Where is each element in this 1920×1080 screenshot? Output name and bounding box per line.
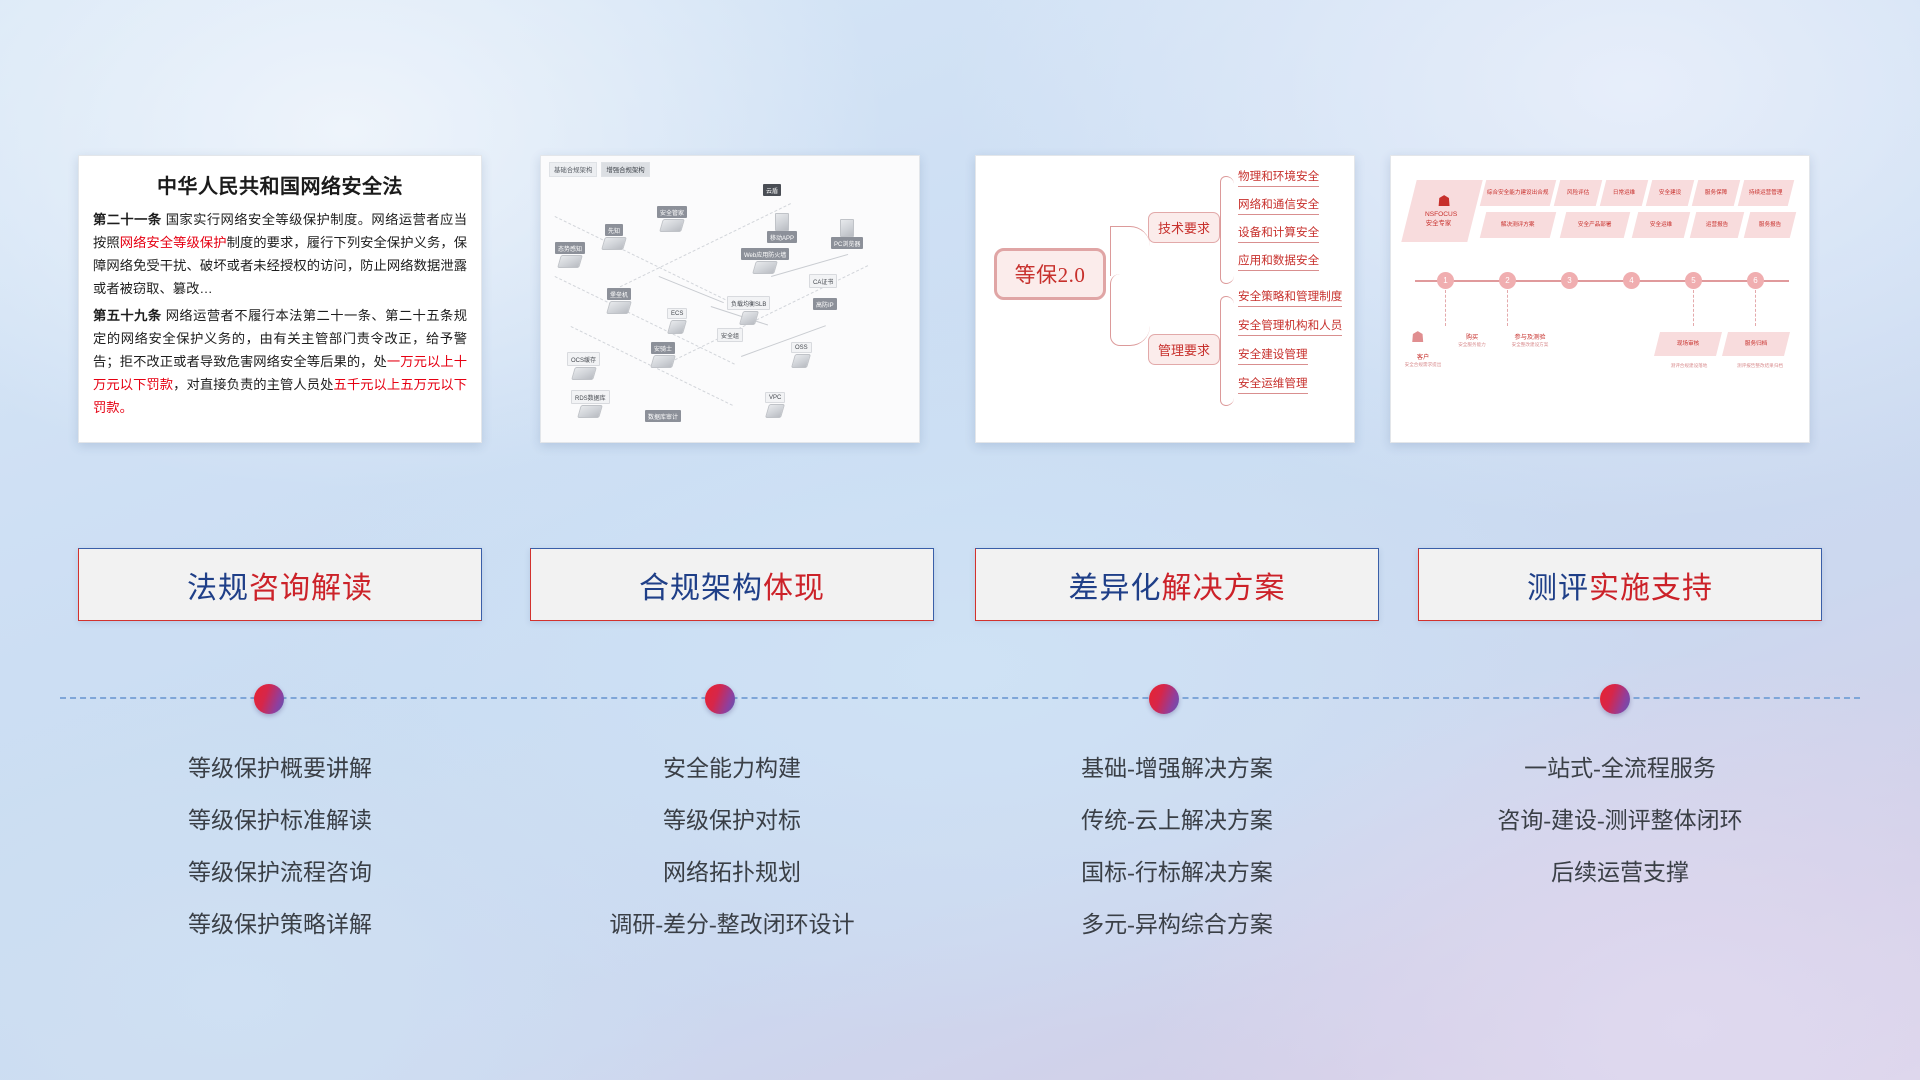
expert-role: 安全专家	[1426, 220, 1452, 228]
title-box-assessment-support[interactable]: 测评实施支持	[1418, 548, 1822, 621]
list-item-asm-2: 后续运营支撑	[1418, 861, 1822, 884]
bottom-label-customer-title: 客户	[1417, 354, 1429, 361]
list-item-reg-3: 等级保护策略详解	[78, 913, 482, 936]
title-text-assessment: 测评实施支持	[1527, 563, 1713, 607]
service-band-label-2: 安全运维	[1650, 222, 1672, 229]
title-box-regulation-consulting[interactable]: 法规咨询解读	[78, 548, 482, 621]
title-text-solution: 差异化解决方案	[1069, 563, 1286, 607]
timeline-dot-3[interactable]	[1149, 684, 1179, 714]
list-item-arch-3: 调研-差分-整改闭环设计	[530, 913, 934, 936]
node-label-waf: Web应用防火墙	[741, 248, 789, 260]
title-blue-1: 合规架构	[639, 572, 763, 605]
top-band-label-1: 风险评估	[1567, 190, 1589, 197]
mindmap-leaf-ops-mgmt: 安全运维管理	[1238, 375, 1308, 394]
node-label-ecs: ECS	[667, 308, 687, 319]
bottom-label-purchase-title: 购买	[1466, 334, 1478, 341]
article-number-21: 第二十一条	[93, 212, 162, 227]
title-blue-2: 差异化	[1069, 572, 1162, 605]
service-band-1: 安全产品部署	[1560, 212, 1630, 238]
bottom-sub-archive-text: 测评报告整改结果归档	[1721, 363, 1799, 369]
bottom-sub-onsite: 测评合规建设落地	[1653, 362, 1725, 369]
mindmap-leaf-device-compute: 设备和计算安全	[1238, 224, 1319, 243]
title-box-differentiated-solution[interactable]: 差异化解决方案	[975, 548, 1379, 621]
architecture-tabs: 基础合规架构 增强合规架构	[549, 162, 650, 177]
bottom-label-customer-sub: 安全合规需求提出	[1401, 362, 1445, 368]
bottom-label-purchase-sub: 安全服务能力	[1449, 342, 1495, 348]
node-label-ca-cert: CA证书	[809, 274, 837, 288]
node-xianzhi: 先知	[603, 224, 625, 250]
list-item-asm-0: 一站式-全流程服务	[1418, 757, 1822, 780]
iso-guide-3	[620, 203, 791, 287]
node-cube-rds	[577, 405, 603, 418]
flow-step-5: 5	[1685, 272, 1702, 289]
bottom-label-customer: 客户 安全合规需求提出	[1401, 352, 1445, 368]
node-label-situational-awareness: 态势感知	[555, 242, 585, 254]
timeline-dot-4[interactable]	[1600, 684, 1630, 714]
service-band-label-3: 运营报告	[1706, 222, 1728, 229]
flow-step-2: 2	[1499, 272, 1516, 289]
list-column-assessment: 一站式-全流程服务 咨询-建设-测评整体闭环 后续运营支撑	[1418, 757, 1822, 913]
flow-drop-2	[1507, 290, 1508, 326]
node-cube-anqishi	[650, 355, 676, 368]
node-cube-mobile	[775, 213, 789, 231]
flow-step-1: 1	[1437, 272, 1454, 289]
node-label-vpc: VPC	[765, 392, 785, 403]
expert-brand: NSFOCUS	[1425, 211, 1457, 219]
top-band-1: 风险评估	[1554, 180, 1602, 206]
bottom-label-participate-sub: 安全整改建设方案	[1499, 342, 1561, 348]
arch-connector-4	[741, 325, 826, 357]
node-label-oss: OSS	[791, 342, 812, 353]
list-item-reg-2: 等级保护流程咨询	[78, 861, 482, 884]
node-rds-database: RDS数据库	[571, 390, 610, 418]
title-blue-0: 法规	[187, 572, 249, 605]
expert-badge: ☗ NSFOCUS 安全专家	[1401, 180, 1482, 242]
node-cube-oss	[791, 354, 811, 368]
title-red-0: 咨询解读	[249, 572, 373, 605]
bottom-band-onsite-title: 现场审核	[1677, 341, 1699, 348]
node-label-cloud-shield: 云盾	[763, 184, 781, 196]
timeline-dot-2[interactable]	[705, 684, 735, 714]
service-flow-diagram: ☗ NSFOCUS 安全专家 综合安全能力建设出合规 风险评估 日常运维 安全建…	[1391, 156, 1809, 442]
list-column-solution: 基础-增强解决方案 传统-云上解决方案 国标-行标解决方案 多元-异构综合方案	[975, 757, 1379, 965]
law-body: 第二十一条 国家实行网络安全等级保护制度。网络运营者应当按照网络安全等级保护制度…	[79, 209, 481, 420]
node-ecs: ECS	[667, 308, 687, 334]
mindmap-branch-management: 管理要求	[1148, 334, 1220, 365]
list-item-reg-0: 等级保护概要讲解	[78, 757, 482, 780]
service-band-label-1: 安全产品部署	[1578, 222, 1612, 229]
card-service-flow: ☗ NSFOCUS 安全专家 综合安全能力建设出合规 风险评估 日常运维 安全建…	[1390, 155, 1810, 443]
mindmap-leaf-physical-env: 物理和环境安全	[1238, 168, 1319, 187]
node-anqishi: 安骑士	[651, 342, 675, 368]
node-label-mobile-app: 移动APP	[767, 231, 797, 243]
article-21-seg-1: 网络安全等级保护	[120, 235, 227, 250]
title-red-2: 解决方案	[1162, 572, 1286, 605]
tab-enhanced-architecture[interactable]: 增强合规架构	[601, 162, 649, 177]
top-band-0: 综合安全能力建设出合规	[1480, 180, 1556, 206]
mindmap-curve-mgmt	[1110, 274, 1150, 346]
flow-timeline-line	[1415, 280, 1789, 282]
service-band-0: 解决测评方案	[1480, 212, 1556, 238]
top-band-2: 日常运维	[1600, 180, 1648, 206]
node-ocs-cache: OCS缓存	[567, 352, 600, 380]
node-anti-ddos: 高防IP	[813, 298, 837, 310]
list-item-reg-1: 等级保护标准解读	[78, 809, 482, 832]
title-red-3: 实施支持	[1589, 572, 1713, 605]
timeline-dashed-line	[60, 697, 1860, 699]
law-paragraph-21: 第二十一条 国家实行网络安全等级保护制度。网络运营者应当按照网络安全等级保护制度…	[93, 209, 467, 300]
mindmap-curve-tech	[1110, 226, 1150, 276]
list-item-arch-1: 等级保护对标	[530, 809, 934, 832]
flow-step-3: 3	[1561, 272, 1578, 289]
mindmap-root-node: 等保2.0	[994, 248, 1106, 300]
title-text-architecture: 合规架构体现	[639, 563, 825, 607]
list-column-architecture: 安全能力构建 等级保护对标 网络拓扑规划 调研-差分-整改闭环设计	[530, 757, 934, 965]
mindmap-leaf-construction-mgmt: 安全建设管理	[1238, 346, 1308, 365]
node-oss: OSS	[791, 342, 812, 368]
list-item-asm-1: 咨询-建设-测评整体闭环	[1418, 809, 1822, 832]
node-db-audit: 数据库审计	[645, 410, 681, 422]
node-label-db-audit: 数据库审计	[645, 410, 681, 422]
node-label-ocs-cache: OCS缓存	[567, 352, 600, 366]
list-item-arch-0: 安全能力构建	[530, 757, 934, 780]
node-cube-situational	[557, 255, 583, 268]
node-label-anti-ddos: 高防IP	[813, 298, 837, 310]
node-cube-vpc	[765, 404, 785, 418]
expert-icon: ☗	[1438, 194, 1451, 209]
node-label-security-butler: 安全管家	[657, 206, 687, 218]
node-cube-pc	[840, 219, 854, 237]
node-cube-ecs	[667, 320, 687, 334]
node-bastion-host: 堡垒机	[607, 288, 631, 314]
mindmap-leaf-app-data: 应用和数据安全	[1238, 252, 1319, 271]
mindmap-leaf-policy-system: 安全策略和管理制度	[1238, 288, 1342, 307]
service-band-4: 服务报告	[1744, 212, 1796, 238]
node-waf: Web应用防火墙	[741, 248, 789, 274]
node-cube-waf	[752, 261, 778, 274]
node-vpc: VPC	[765, 392, 785, 418]
flow-drop-5	[1693, 290, 1694, 326]
bottom-band-service-archive: 服务归档	[1722, 332, 1790, 356]
customer-icon: ☗	[1411, 328, 1424, 346]
bottom-label-participate-title: 参与及测验	[1515, 334, 1546, 341]
list-item-sol-0: 基础-增强解决方案	[975, 757, 1379, 780]
mindmap-fan-management	[1220, 296, 1234, 406]
law-paragraph-59: 第五十九条 网络运营者不履行本法第二十一条、第二十五条规定的网络安全保护义务的，…	[93, 305, 467, 419]
law-title: 中华人民共和国网络安全法	[79, 170, 481, 199]
list-item-sol-3: 多元-异构综合方案	[975, 913, 1379, 936]
arch-connector-1	[659, 276, 724, 303]
flow-drop-6	[1755, 290, 1756, 326]
title-box-compliance-architecture[interactable]: 合规架构体现	[530, 548, 934, 621]
node-shiyun: 云盾	[763, 184, 781, 196]
node-ca-cert: CA证书	[809, 274, 837, 288]
flow-drop-1	[1445, 290, 1446, 326]
top-band-label-0: 综合安全能力建设出合规	[1487, 190, 1549, 197]
node-situational-awareness: 态势感知	[555, 242, 585, 268]
node-label-pc-browser: PC浏览器	[831, 237, 863, 249]
node-label-security-group: 安全组	[717, 328, 743, 342]
node-label-bastion-host: 堡垒机	[607, 288, 631, 300]
node-pc-browser: PC浏览器	[831, 218, 863, 249]
bottom-band-onsite-review: 现场审核	[1654, 332, 1722, 356]
title-blue-3: 测评	[1527, 572, 1589, 605]
mindmap: 等保2.0 技术要求 物理和环境安全 网络和通信安全 设备和计算安全 应用和数据…	[976, 156, 1354, 442]
slide-canvas: 中华人民共和国网络安全法 第二十一条 国家实行网络安全等级保护制度。网络运营者应…	[0, 0, 1920, 1080]
mindmap-fan-technical	[1220, 176, 1234, 284]
article-59-seg-2: ，对直接负责的主管人员处	[173, 377, 333, 392]
mindmap-branch-technical: 技术要求	[1148, 212, 1220, 243]
top-band-4: 服务保障	[1692, 180, 1740, 206]
bottom-band-archive-title: 服务归档	[1745, 341, 1767, 348]
node-label-slb: 负载均衡SLB	[727, 296, 770, 310]
mindmap-leaf-org-personnel: 安全管理机构和人员	[1238, 317, 1342, 336]
article-number-59: 第五十九条	[93, 308, 162, 323]
top-band-label-4: 服务保障	[1705, 190, 1727, 197]
mindmap-leaf-network-comm: 网络和通信安全	[1238, 196, 1319, 215]
card-cybersecurity-law: 中华人民共和国网络安全法 第二十一条 国家实行网络安全等级保护制度。网络运营者应…	[78, 155, 482, 443]
node-slb: 负载均衡SLB	[727, 296, 770, 325]
node-mobile-app: 移动APP	[767, 212, 797, 243]
top-band-label-3: 安全建设	[1659, 190, 1681, 197]
tab-basic-architecture[interactable]: 基础合规架构	[549, 162, 597, 177]
list-column-regulation: 等级保护概要讲解 等级保护标准解读 等级保护流程咨询 等级保护策略详解	[78, 757, 482, 965]
node-cube-xianzhi	[601, 237, 627, 250]
node-cube-butler	[659, 219, 685, 232]
flow-step-4: 4	[1623, 272, 1640, 289]
architecture-diagram: 基础合规架构 增强合规架构 云盾 态势感知 先知	[541, 156, 919, 442]
card-mbps-mindmap: 等保2.0 技术要求 物理和环境安全 网络和通信安全 设备和计算安全 应用和数据…	[975, 155, 1355, 443]
title-text-regulation: 法规咨询解读	[187, 563, 373, 607]
node-label-xianzhi: 先知	[605, 224, 623, 236]
node-label-rds: RDS数据库	[571, 390, 610, 404]
service-band-label-4: 服务报告	[1759, 222, 1781, 229]
node-label-anqishi: 安骑士	[651, 342, 675, 354]
list-item-sol-1: 传统-云上解决方案	[975, 809, 1379, 832]
list-item-sol-2: 国标-行标解决方案	[975, 861, 1379, 884]
bottom-label-participate: 参与及测验 安全整改建设方案	[1499, 332, 1561, 348]
flow-step-6: 6	[1747, 272, 1764, 289]
top-band-5: 持续运营管理	[1738, 180, 1794, 206]
top-band-label-5: 持续运营管理	[1749, 190, 1783, 197]
bottom-sub-onsite-text: 测评合规建设落地	[1653, 363, 1725, 369]
list-item-arch-2: 网络拓扑规划	[530, 861, 934, 884]
bottom-label-purchase: 购买 安全服务能力	[1449, 332, 1495, 348]
card-compliance-architecture: 基础合规架构 增强合规架构 云盾 态势感知 先知	[540, 155, 920, 443]
node-cube-ocs	[571, 367, 597, 380]
top-band-label-2: 日常运维	[1613, 190, 1635, 197]
node-cube-slb	[739, 311, 759, 325]
timeline-dot-1[interactable]	[254, 684, 284, 714]
service-band-label-0: 解决测评方案	[1501, 222, 1535, 229]
node-security-butler: 安全管家	[657, 206, 687, 232]
service-band-2: 安全运维	[1632, 212, 1690, 238]
service-band-3: 运营报告	[1690, 212, 1744, 238]
bottom-sub-archive: 测评报告整改结果归档	[1721, 362, 1799, 369]
title-red-1: 体现	[763, 572, 825, 605]
node-security-group: 安全组	[717, 328, 743, 342]
top-band-3: 安全建设	[1646, 180, 1694, 206]
node-cube-bastion	[606, 301, 632, 314]
